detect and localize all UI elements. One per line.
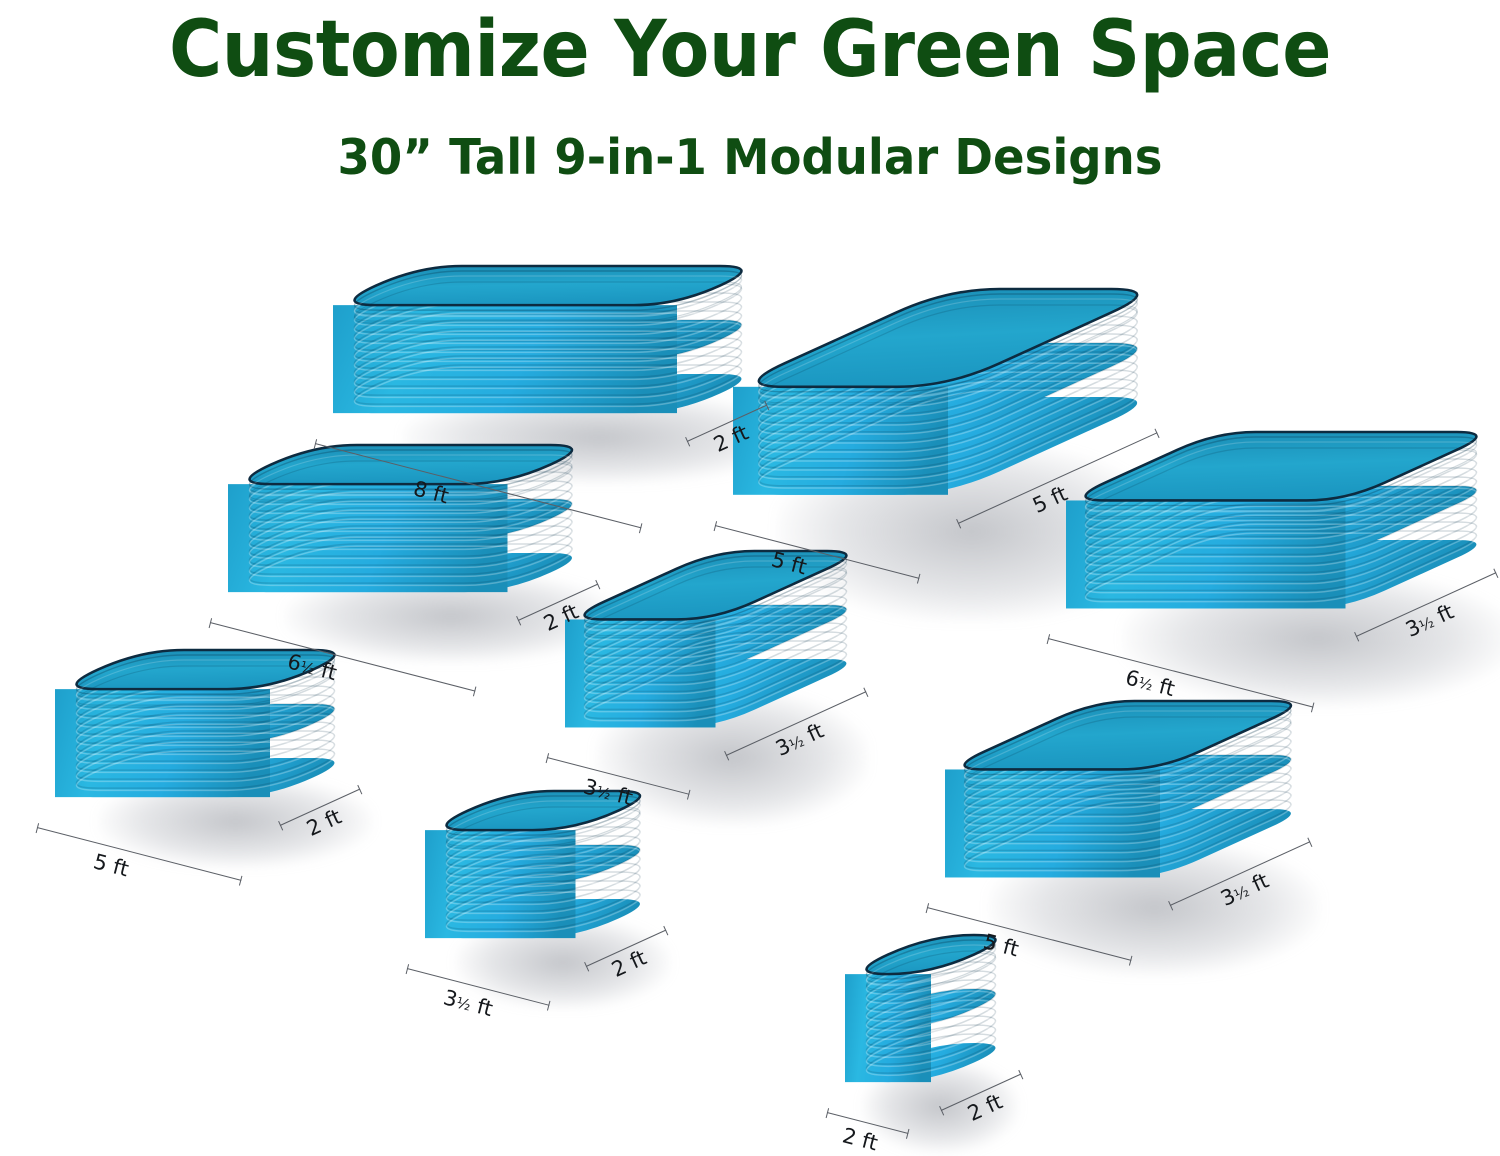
dimension-label-length: 5 ft	[91, 849, 131, 881]
dimension-label-length: 3½ ft	[441, 985, 495, 1021]
infographic-canvas: Customize Your Green Space 30” Tall 9-in…	[0, 0, 1500, 1141]
dimension-label-length: 2 ft	[840, 1124, 880, 1156]
planter-rect-6h-x-3h	[1040, 406, 1500, 639]
dimension-line-length	[37, 827, 241, 881]
planter-oval-3h-x-2	[399, 765, 696, 969]
planter-rect-5x3h	[919, 675, 1345, 908]
page-title: Customize Your Green Space	[53, 4, 1448, 96]
page-subtitle: 30” Tall 9-in-1 Modular Designs	[38, 128, 1463, 188]
